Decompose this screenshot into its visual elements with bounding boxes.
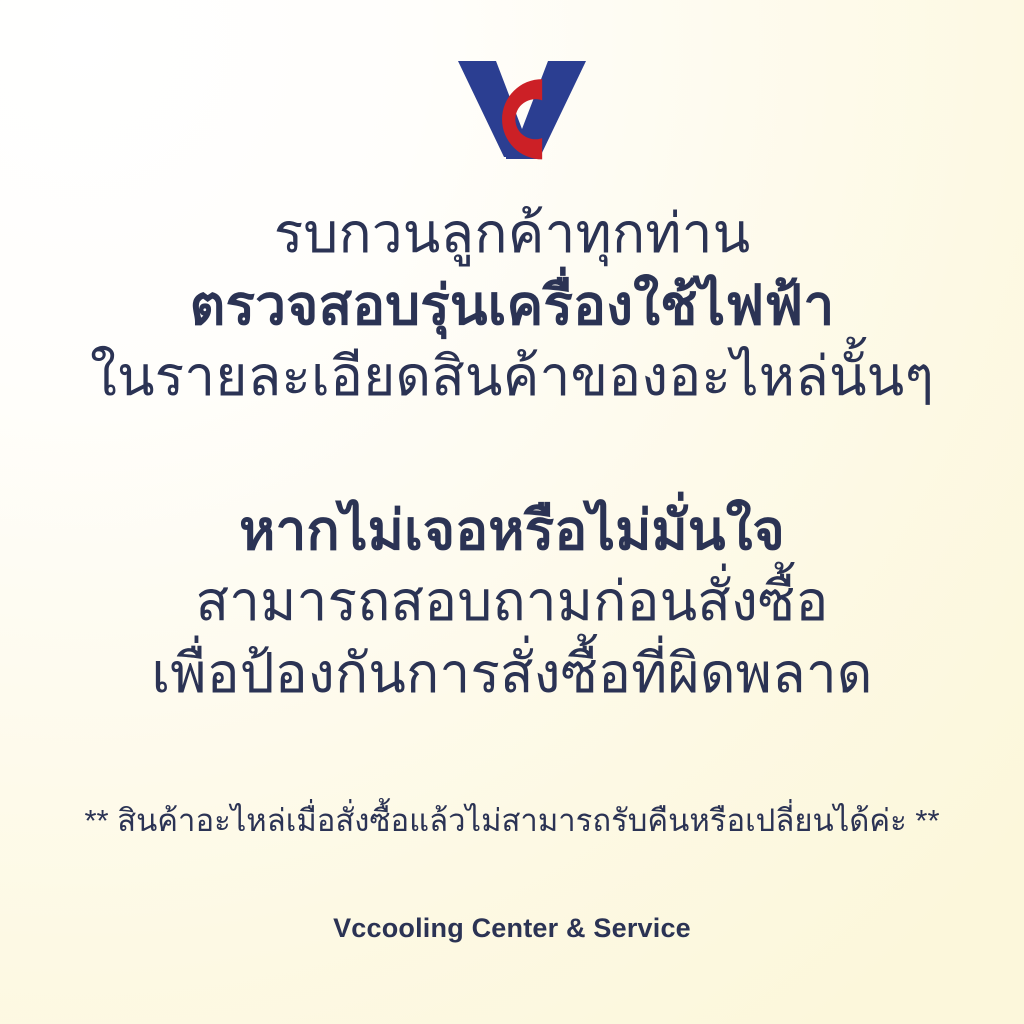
paragraph-two-line-1: หากไม่เจอหรือไม่มั่นใจ (0, 495, 1024, 567)
poster-content: รบกวนลูกค้าทุกท่าน ตรวจสอบรุ่นเครื่องใช้… (0, 166, 1024, 944)
paragraph-one: รบกวนลูกค้าทุกท่าน ตรวจสอบรุ่นเครื่องใช้… (0, 198, 1024, 413)
poster-canvas: รบกวนลูกค้าทุกท่าน ตรวจสอบรุ่นเครื่องใช้… (0, 0, 1024, 1024)
brand-logo (417, 46, 607, 166)
footnote-text: ** สินค้าอะไหล่เมื่อสั่งซื้อแล้วไม่สามาร… (84, 801, 939, 841)
brand-name: Vccooling Center & Service (333, 913, 691, 944)
paragraph-one-line-2: ตรวจสอบรุ่นเครื่องใช้ไฟฟ้า (0, 270, 1024, 342)
paragraph-one-line-1: รบกวนลูกค้าทุกท่าน (0, 198, 1024, 270)
paragraph-one-line-3: ในรายละเอียดสินค้าของอะไหล่นั้นๆ (0, 341, 1024, 413)
paragraph-two: หากไม่เจอหรือไม่มั่นใจ สามารถสอบถามก่อนส… (0, 495, 1024, 710)
paragraph-two-line-2: สามารถสอบถามก่อนสั่งซื้อ (0, 566, 1024, 638)
paragraph-two-line-3: เพื่อป้องกันการสั่งซื้อที่ผิดพลาด (0, 638, 1024, 710)
vc-logo-icon (422, 47, 602, 165)
